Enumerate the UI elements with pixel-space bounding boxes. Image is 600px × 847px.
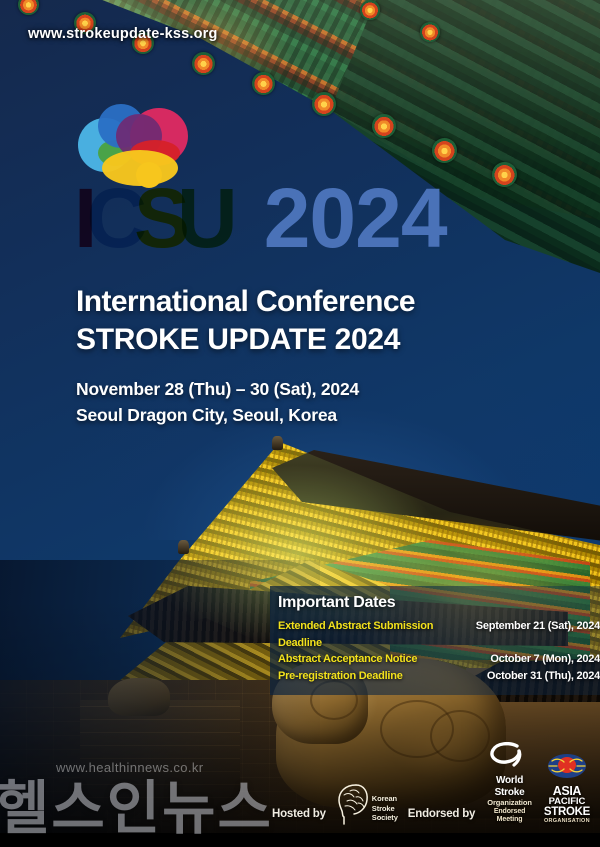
asia-pacific-stroke-organisation-logo[interactable]: ASIA PACIFIC STROKE ORGANISATION: [544, 753, 590, 825]
world-stroke-organization-logo[interactable]: World Stroke Organization Endorsed Meeti…: [485, 742, 534, 825]
date-label: Pre-registration Deadline: [278, 668, 403, 685]
icsu-wordmark: I C S U 2024: [74, 176, 447, 260]
apso-line3: STROKE: [544, 807, 590, 819]
endorsed-by-label: Endorsed by: [408, 808, 475, 825]
conference-venue: Seoul Dragon City, Seoul, Korea: [76, 405, 415, 426]
conference-title-line1: International Conference: [76, 285, 415, 319]
wso-line3: Endorsed Meeting: [485, 808, 534, 826]
watermark-text: 헬스인뉴스: [0, 761, 273, 845]
date-label: Extended Abstract Submission Deadline: [278, 618, 476, 651]
head-brain-icon: [336, 783, 370, 825]
important-dates-panel: Important Dates Extended Abstract Submis…: [270, 586, 600, 695]
website-url[interactable]: www.strokeupdate-kss.org: [28, 26, 218, 42]
wso-line2: Organization: [485, 798, 534, 807]
date-value: September 21 (Sat), 2024: [476, 618, 600, 635]
date-value: October 31 (Thu), 2024: [487, 668, 600, 685]
icsu-year: 2024: [264, 176, 447, 260]
important-dates-heading: Important Dates: [278, 594, 600, 612]
title-block: International Conference STROKE UPDATE 2…: [76, 285, 415, 426]
conference-title-line2: STROKE UPDATE 2024: [76, 323, 415, 357]
apso-brain-icon: [547, 753, 587, 779]
date-value: October 7 (Mon), 2024: [490, 651, 600, 668]
kss-wordmark: Korean Stroke Society: [372, 794, 398, 825]
kss-line2: Stroke: [372, 804, 398, 814]
apso-line4: ORGANISATION: [544, 818, 590, 825]
important-date-row: Abstract Acceptance Notice October 7 (Mo…: [278, 651, 600, 668]
icsu-letters: I C S U: [74, 176, 236, 260]
wso-swirl-icon: [487, 742, 533, 768]
icsu-letter-u: U: [177, 176, 236, 260]
date-label: Abstract Acceptance Notice: [278, 651, 417, 668]
conference-dates: November 28 (Thu) – 30 (Sat), 2024: [76, 379, 415, 400]
important-date-row: Extended Abstract Submission Deadline Se…: [278, 618, 600, 651]
kss-line1: Korean: [372, 794, 398, 804]
important-date-row: Pre-registration Deadline October 31 (Th…: [278, 668, 600, 685]
wso-line1: World Stroke: [485, 775, 534, 798]
korean-stroke-society-logo[interactable]: Korean Stroke Society: [336, 783, 398, 825]
kss-line3: Society: [372, 813, 398, 823]
conference-poster: www.strokeupdate-kss.org I C S U 2024 In…: [0, 0, 600, 847]
footer-logo-strip: Hosted by Korean Stroke Society Endorsed…: [272, 759, 590, 825]
hosted-by-label: Hosted by: [272, 808, 326, 825]
